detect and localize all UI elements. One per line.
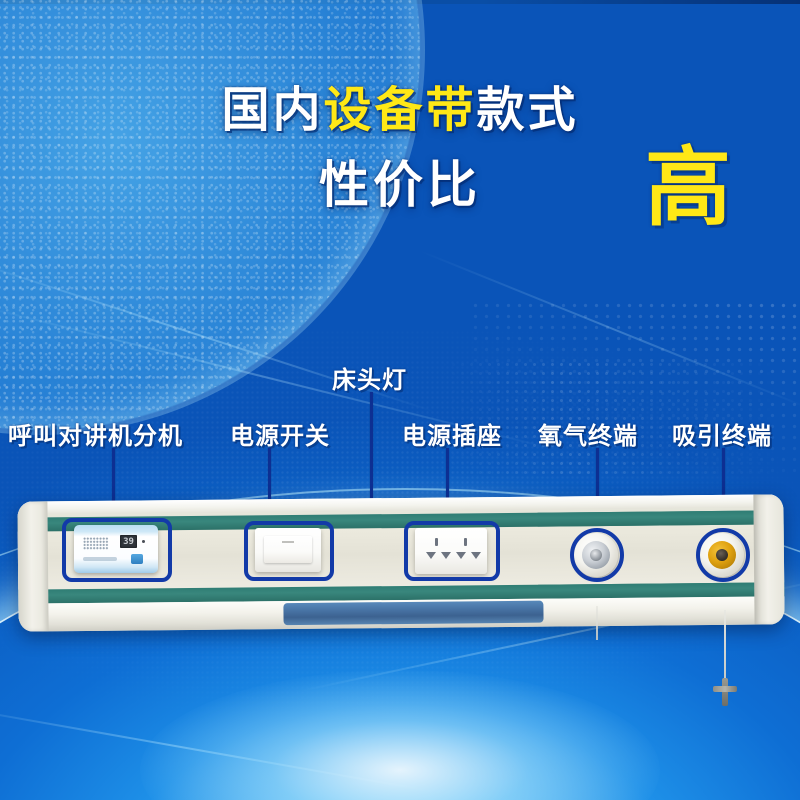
panel-blue-track xyxy=(283,601,543,625)
callout-layer: 呼叫对讲机分机 电源开关 床头灯 电源插座 氧气终端 吸引终端 xyxy=(0,0,800,800)
highlight-suction-terminal xyxy=(696,528,750,582)
callout-power-socket: 电源插座 xyxy=(402,416,502,451)
cross-hook-icon xyxy=(713,678,737,706)
callout-suction-terminal: 吸引终端 xyxy=(672,416,772,451)
oxygen-hanging-cord xyxy=(596,606,598,640)
hook-horizontal-bar xyxy=(713,686,737,692)
callout-nurse-call-intercom: 呼叫对讲机分机 xyxy=(8,416,183,451)
suction-hanging-cord xyxy=(724,610,726,682)
poster-stage: 国内设备带款式 性价比 高 呼叫对讲机分机 电源开关 床头灯 电源插座 氧气终端… xyxy=(0,0,800,800)
callout-power-switch: 电源开关 xyxy=(230,416,330,451)
highlight-oxygen-terminal xyxy=(570,528,624,582)
panel-end-cap-left xyxy=(17,501,48,631)
highlight-power-socket xyxy=(404,521,500,581)
hook-vertical-bar xyxy=(722,678,728,706)
highlight-intercom xyxy=(62,518,172,582)
callout-bed-lamp: 床头灯 xyxy=(332,360,407,395)
panel-end-cap-right xyxy=(753,494,784,624)
highlight-power-switch xyxy=(244,521,334,581)
callout-oxygen-terminal: 氧气终端 xyxy=(538,416,638,451)
